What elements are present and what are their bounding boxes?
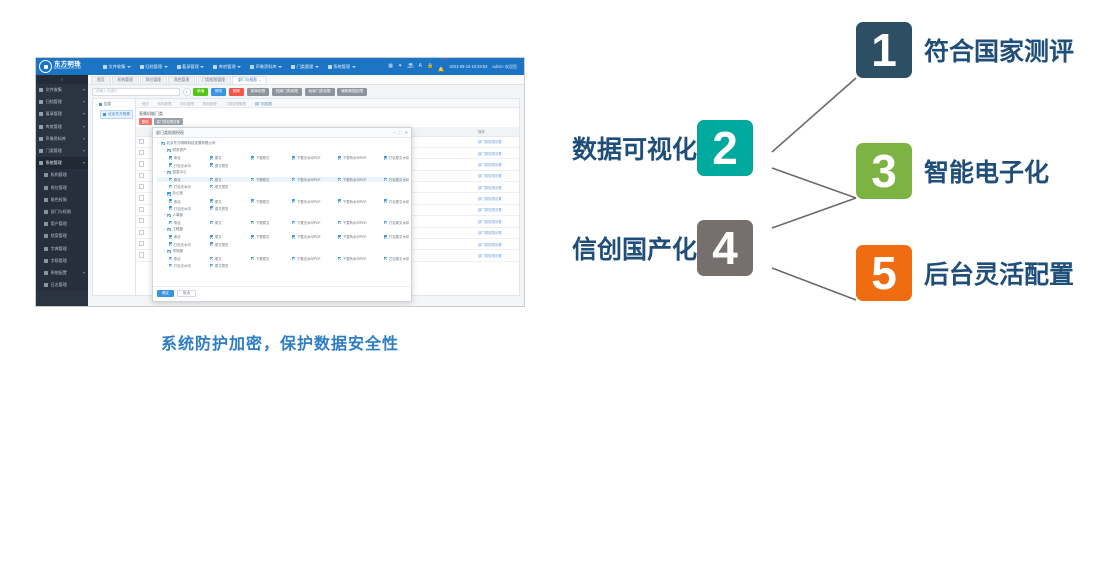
nav-icon-4 <box>250 65 254 69</box>
col-checkbox <box>136 127 150 137</box>
tab-label-0: 首页 <box>97 78 105 83</box>
modal-header: 部门类权限授权 − ⛶ ✕ <box>153 128 411 138</box>
badge-number-3: 3 <box>856 143 912 199</box>
sidebar-icon-0 <box>39 88 43 92</box>
sidebar: ≡ 文件收集 归档管理 著录管理 库房管理 声像资料库 门类管理 系统管理 机构… <box>36 75 88 307</box>
sidebar-label-0: 文件收集 <box>46 87 81 93</box>
tab-1[interactable]: 机构管理 <box>112 76 139 84</box>
toolbar: 请输入关键字 ⌕ 新增 修改 删除 菜单权限 档案门类权限 检索门类权限 辅助数… <box>88 85 524 98</box>
feature-node-3: 3 智能电子化 <box>856 143 1049 199</box>
folder-icon <box>99 103 102 106</box>
row-action[interactable]: 部门类权限设置 <box>475 182 519 193</box>
bell-icon[interactable]: 🔔 9 <box>438 58 444 76</box>
chevron-down-icon-s0 <box>83 89 85 91</box>
row-checkbox[interactable] <box>136 204 150 215</box>
sidebar-label-2: 著录管理 <box>46 111 81 117</box>
modal-perm-row-0-0: 条目 原文 下载原文 下载无水印PDF 下载有水印PDF 打包原文水印 <box>157 155 407 160</box>
chevron-down-icon-s5 <box>83 150 85 152</box>
sidebar-icon-8 <box>44 186 48 190</box>
inner-tab-2[interactable]: 岗位管理 <box>176 101 198 106</box>
add-button[interactable]: 新增 <box>193 88 208 96</box>
tree-child-label: 北京东方明珠 <box>108 112 130 117</box>
tab-4[interactable]: 门类权限管理 <box>196 76 231 84</box>
sidebar-icon-11 <box>44 222 48 226</box>
modal-footer: 确定 取消 <box>153 286 411 300</box>
feature-diagram: 1 符合国家测评 数据可视化 2 3 智能电子化 信创国产化 4 5 后台灵活配… <box>560 0 1118 360</box>
perm-4-0-1[interactable]: 原文 <box>210 234 251 239</box>
maximize-icon[interactable]: ⛶ <box>399 130 402 135</box>
row-checkbox[interactable] <box>136 216 150 227</box>
perm-2-0-0[interactable]: 条目 <box>169 199 210 204</box>
modal-confirm-button[interactable]: 确定 <box>157 290 174 298</box>
chevron-down-icon-s15 <box>83 272 85 274</box>
sidebar-item-0[interactable]: 文件收集 <box>36 84 88 96</box>
panel-permission-button[interactable]: 部门类权限设置 <box>154 118 183 125</box>
connector-4-to-3 <box>772 198 856 228</box>
nav-icon-6 <box>328 65 332 69</box>
modal-cancel-button[interactable]: 取消 <box>177 290 196 298</box>
perm-5-0-0[interactable]: 条目 <box>169 256 210 261</box>
checkbox-group-4[interactable] <box>167 228 170 231</box>
sidebar-icon-12 <box>44 234 48 238</box>
folder-icon-child <box>103 113 106 116</box>
row-checkbox[interactable] <box>136 182 150 193</box>
feature-node-2: 数据可视化 2 <box>572 120 753 176</box>
perm-5-1-1[interactable]: 原文预览 <box>210 263 251 268</box>
modal-group-5[interactable]: − 市场部 <box>157 249 407 254</box>
row-action[interactable]: 部门类权限设置 <box>475 238 519 249</box>
perm-0-0-0[interactable]: 条目 <box>169 155 210 160</box>
perm-1-1-1[interactable]: 原文预览 <box>210 184 251 189</box>
nav-icon-3 <box>213 65 217 69</box>
checkbox-group-3[interactable] <box>167 214 170 217</box>
archive-category-permission-button[interactable]: 档案门类权限 <box>272 88 302 96</box>
perm-1-0-2[interactable]: 下载原文 <box>251 177 292 182</box>
sidebar-item-8[interactable]: 岗位管理 <box>36 182 88 194</box>
sidebar-item-3[interactable]: 库房管理 <box>36 121 88 133</box>
nav-item-2[interactable]: 著录管理 <box>177 64 205 70</box>
modal-perm-row-5-1: 打包无水印 原文预览 <box>157 263 407 268</box>
nav-item-0[interactable]: 文件收集 <box>103 64 131 70</box>
sidebar-item-6[interactable]: 系统管理 <box>36 157 88 169</box>
panel-delete-button[interactable]: 删除 <box>139 118 152 125</box>
tab-3[interactable]: 角色管理 <box>168 76 195 84</box>
sidebar-icon-6 <box>39 161 43 165</box>
search-icon[interactable]: ⌕ <box>183 88 191 96</box>
sidebar-item-2[interactable]: 著录管理 <box>36 108 88 120</box>
sidebar-item-4[interactable]: 声像资料库 <box>36 133 88 145</box>
tab-label-4: 门类权限管理 <box>202 78 225 83</box>
perm-5-0-2[interactable]: 下载原文 <box>251 256 292 261</box>
tab-label-1: 机构管理 <box>118 78 133 83</box>
modal-group-label-4: 工程部 <box>173 227 184 232</box>
badge-number-2: 2 <box>697 120 753 176</box>
modal-group-label-1: 信息中心 <box>173 170 187 175</box>
chevron-down-icon-s3 <box>83 126 85 128</box>
perm-0-0-4[interactable]: 下载有水印PDF <box>338 155 384 160</box>
modal-group-0[interactable]: − 财务资产 <box>157 148 407 153</box>
nav-item-1[interactable]: 归档管理 <box>140 64 168 70</box>
col-action: 操作 <box>475 127 519 137</box>
tree-collapse-icon-g1[interactable]: − <box>163 170 165 174</box>
umbrella-icon[interactable]: ⛱ <box>407 64 413 69</box>
sidebar-item-15[interactable]: 系统配置 <box>36 267 88 279</box>
sidebar-icon-4 <box>39 137 43 141</box>
feature-label-3: 智能电子化 <box>924 153 1049 189</box>
perm-1-0-4[interactable]: 下载有水印PDF <box>338 177 384 182</box>
perm-2-0-3[interactable]: 下载无水印PDF <box>292 199 338 204</box>
sidebar-item-13[interactable]: 字典管理 <box>36 242 88 254</box>
lock-icon[interactable]: 🔒 <box>427 64 433 69</box>
sidebar-item-14[interactable]: 字段管理 <box>36 255 88 267</box>
row-action[interactable]: 部门类权限设置 <box>475 147 519 158</box>
modal-group-label-5: 市场部 <box>173 249 184 254</box>
row-action[interactable]: 部门类权限设置 <box>475 250 519 261</box>
chevron-down-icon-s4 <box>83 138 85 140</box>
tab-label-5: 部门与权限 <box>238 78 257 83</box>
sidebar-label-9: 角色权限 <box>51 197 86 203</box>
modal-group-2[interactable]: − 办公室 <box>157 191 407 196</box>
perm-1-1-0[interactable]: 打包无水印 <box>169 184 210 189</box>
row-action[interactable]: 部门类权限设置 <box>475 216 519 227</box>
sidebar-icon-9 <box>44 198 48 202</box>
nav-item-3[interactable]: 库房管理 <box>213 64 241 70</box>
modal-title: 部门类权限授权 <box>156 130 184 136</box>
perm-4-1-1[interactable]: 原文预览 <box>210 242 251 247</box>
modal-group-label-2: 办公室 <box>173 191 184 196</box>
checkbox-group-2[interactable] <box>167 192 170 195</box>
checkbox-group-1[interactable] <box>167 171 170 174</box>
sidebar-item-1[interactable]: 归档管理 <box>36 96 88 108</box>
row-checkbox[interactable] <box>136 193 150 204</box>
modal-perm-row-4-1: 打包无水印 原文预览 <box>157 242 407 247</box>
nav-label-3: 库房管理 <box>219 64 236 70</box>
modal-perm-row-3-0: 条目 原文 下载原文 下载无水印PDF 下载有水印PDF 打包原文水印 <box>157 220 407 225</box>
nav-label-4: 声像资料库 <box>256 64 277 70</box>
perm-5-0-5[interactable]: 打包原文水印 <box>384 256 411 261</box>
sidebar-item-7[interactable]: 机构管理 <box>36 169 88 181</box>
nav-label-1: 归档管理 <box>145 64 162 70</box>
row-checkbox[interactable] <box>136 227 150 238</box>
delete-button[interactable]: 删除 <box>229 88 244 96</box>
checkbox-root[interactable] <box>161 142 164 145</box>
grid-icon[interactable]: ▦ <box>388 64 393 69</box>
perm-0-1-0[interactable]: 打包无水印 <box>169 163 210 168</box>
search-input[interactable]: 请输入关键字 <box>92 88 180 96</box>
modal-group-label-3: 人事部 <box>173 213 184 218</box>
sidebar-icon-1 <box>39 100 43 104</box>
perm-4-0-5[interactable]: 打包原文水印 <box>384 234 411 239</box>
tree-root-node[interactable]: − 全部 <box>95 102 133 107</box>
feature-label-4: 信创国产化 <box>572 230 697 266</box>
sidebar-label-1: 归档管理 <box>46 99 81 105</box>
perm-3-0-3[interactable]: 下载无水印PDF <box>292 220 338 225</box>
inner-tab-3[interactable]: 角色管理 <box>199 101 221 106</box>
nav-label-2: 著录管理 <box>182 64 199 70</box>
panel-button-row: 删除 部门类权限设置 <box>136 118 519 127</box>
close-icon[interactable]: ✕ <box>405 130 408 135</box>
nav-item-6[interactable]: 系统管理 <box>328 64 356 70</box>
perm-5-0-1[interactable]: 原文 <box>210 256 251 261</box>
connector-2-to-1 <box>772 78 856 152</box>
tree-child-node[interactable]: 北京东方明珠 <box>100 110 133 119</box>
search-placeholder: 请输入关键字 <box>96 89 118 94</box>
perm-4-0-3[interactable]: 下载无水印PDF <box>292 234 338 239</box>
main-nav[interactable]: 文件收集 归档管理 著录管理 库房管理 声像资料库 门类管理 系统管理 <box>103 64 388 70</box>
tree-collapse-icon-root[interactable]: − <box>157 142 159 146</box>
modal-org-root[interactable]: − 北京东方明珠科技发展有限公司 <box>157 141 407 146</box>
row-action[interactable]: 部门类权限设置 <box>475 193 519 204</box>
star-icon[interactable]: ✦ <box>398 64 402 69</box>
perm-1-0-3[interactable]: 下载无水印PDF <box>292 177 338 182</box>
modal-body: − 北京东方明珠科技发展有限公司 − 财务资产 条目 原文 下载原文 <box>153 138 411 286</box>
perm-3-0-2[interactable]: 下载原文 <box>251 220 292 225</box>
row-checkbox[interactable] <box>136 159 150 170</box>
product-screenshot-card: 东方明珠 MINGZHUDATA.COM 文件收集 归档管理 著录管理 库房管理… <box>35 57 525 307</box>
perm-0-0-3[interactable]: 下载无水印PDF <box>292 155 338 160</box>
chevron-down-icon-6 <box>352 66 356 68</box>
perm-1-0-1[interactable]: 原文 <box>210 177 251 182</box>
sidebar-label-4: 声像资料库 <box>46 136 81 142</box>
sidebar-icon-7 <box>44 173 48 177</box>
sidebar-item-16[interactable]: 日志管理 <box>36 279 88 291</box>
feature-node-1: 1 符合国家测评 <box>856 22 1074 78</box>
menu-permission-button[interactable]: 菜单权限 <box>247 88 270 96</box>
chevron-down-icon-0 <box>127 66 131 68</box>
chevron-down-icon-s1 <box>83 101 85 103</box>
tab-0[interactable]: 首页 <box>91 76 111 84</box>
tree-expand-icon[interactable]: − <box>95 103 97 107</box>
nav-label-6: 系统管理 <box>333 64 350 70</box>
badge-number-5: 5 <box>856 245 912 301</box>
sidebar-icon-10 <box>44 210 48 214</box>
edit-button[interactable]: 修改 <box>211 88 226 96</box>
chevron-down-icon-s6 <box>83 162 85 164</box>
caption-text: 系统防护加密，保护数据安全性 <box>35 330 525 354</box>
badge-number-1: 1 <box>856 22 912 78</box>
sidebar-label-10: 部门与权限 <box>51 209 86 215</box>
row-action[interactable]: 部门类权限设置 <box>475 227 519 238</box>
collapse-icon: ≡ <box>61 77 64 82</box>
sidebar-label-8: 岗位管理 <box>51 185 86 191</box>
perm-4-0-2[interactable]: 下载原文 <box>251 234 292 239</box>
row-action[interactable]: 部门类权限设置 <box>475 136 519 147</box>
row-action[interactable]: 部门类权限设置 <box>475 170 519 181</box>
modal-perm-row-2-1: 打包无水印 原文预览 <box>157 206 407 211</box>
badge-number-4: 4 <box>697 220 753 276</box>
tree-root-label: 全部 <box>104 102 112 107</box>
modal-perm-row-0-1: 打包无水印 原文预览 <box>157 163 407 168</box>
perm-2-1-1[interactable]: 原文预览 <box>210 206 251 211</box>
modal-group-4[interactable]: − 工程部 <box>157 227 407 232</box>
inner-tab-4[interactable]: 门类权限管理 <box>221 101 249 106</box>
tab-label-2: 岗位管理 <box>146 78 161 83</box>
perm-2-0-5[interactable]: 打包原文水印 <box>384 199 411 204</box>
sidebar-label-12: 档案管理 <box>51 233 86 239</box>
perm-0-1-1[interactable]: 原文预览 <box>210 163 251 168</box>
sidebar-icon-5 <box>39 149 43 153</box>
modal-perm-row-5-0: 条目 原文 下载原文 下载无水印PDF 下载有水印PDF 打包原文水印 <box>157 256 407 261</box>
row-checkbox[interactable] <box>136 250 150 261</box>
sidebar-icon-3 <box>39 125 43 129</box>
modal-perm-row-2-0: 条目 原文 下载原文 下载无水印PDF 下载有水印PDF 打包原文水印 <box>157 199 407 204</box>
org-tree-panel: − 全部 北京东方明珠 <box>92 98 136 296</box>
panel-title: 直属机能门类 <box>136 108 519 118</box>
perm-0-0-2[interactable]: 下载原文 <box>251 155 292 160</box>
sidebar-label-11: 用户管理 <box>51 221 86 227</box>
perm-3-0-5[interactable]: 打包原文水印 <box>384 220 411 225</box>
modal-group-label-0: 财务资产 <box>173 148 187 153</box>
modal-group-1[interactable]: − 信息中心 <box>157 170 407 175</box>
chevron-down-icon-2 <box>200 66 204 68</box>
perm-5-0-3[interactable]: 下载无水印PDF <box>292 256 338 261</box>
perm-0-0-1[interactable]: 原文 <box>210 155 251 160</box>
aux-data-permission-button[interactable]: 辅助数据权限 <box>337 88 367 96</box>
inner-tab-strip: 首页 机构管理 岗位管理 角色管理 门类权限管理 部门与权限 <box>136 99 519 108</box>
nav-item-4[interactable]: 声像资料库 <box>250 64 282 70</box>
row-checkbox[interactable] <box>136 238 150 249</box>
modal-org-root-label: 北京东方明珠科技发展有限公司 <box>167 141 216 146</box>
row-action[interactable]: 部门类权限设置 <box>475 159 519 170</box>
feature-label-5: 后台灵活配置 <box>924 255 1074 291</box>
perm-0-0-5[interactable]: 打包原文水印 <box>384 155 411 160</box>
nav-item-5[interactable]: 门类管理 <box>291 64 319 70</box>
row-action[interactable]: 部门类权限设置 <box>475 204 519 215</box>
feature-label-1: 符合国家测评 <box>924 32 1074 68</box>
tree-collapse-icon-g2[interactable]: − <box>163 192 165 196</box>
search-category-permission-button[interactable]: 检索门类权限 <box>305 88 335 96</box>
perm-2-1-0[interactable]: 打包无水印 <box>169 206 210 211</box>
perm-4-0-0[interactable]: 条目 <box>169 234 210 239</box>
modal-group-3[interactable]: − 人事部 <box>157 213 407 218</box>
user-greeting: admin 欢迎您 <box>492 64 517 70</box>
perm-5-0-4[interactable]: 下载有水印PDF <box>338 256 384 261</box>
chevron-down-icon-1 <box>164 66 168 68</box>
sidebar-icon-2 <box>39 112 43 116</box>
sidebar-label-7: 机构管理 <box>51 172 86 178</box>
feature-label-2: 数据可视化 <box>572 130 697 166</box>
close-icon-tab-5[interactable]: × <box>259 79 261 83</box>
sidebar-item-5[interactable]: 门类管理 <box>36 145 88 157</box>
sidebar-label-14: 字段管理 <box>51 258 86 264</box>
minimize-icon[interactable]: − <box>393 130 395 135</box>
sidebar-label-6: 系统管理 <box>46 160 81 166</box>
modal-perm-row-4-0: 条目 原文 下载原文 下载无水印PDF 下载有水印PDF 打包原文水印 <box>157 234 407 239</box>
perm-3-0-0[interactable]: 条目 <box>169 220 210 225</box>
tab-5[interactable]: 部门与权限× <box>232 76 267 84</box>
inner-tab-5[interactable]: 部门与权限 <box>251 101 276 106</box>
workspace: 首页 机构管理 岗位管理 角色管理 门类权限管理 部门与权限× 请输入关键字 ⌕… <box>88 75 524 307</box>
perm-2-0-2[interactable]: 下载原文 <box>251 199 292 204</box>
perm-3-0-1[interactable]: 原文 <box>210 220 251 225</box>
nav-icon-1 <box>140 65 144 69</box>
checkbox-group-5[interactable] <box>167 250 170 253</box>
row-checkbox[interactable] <box>136 170 150 181</box>
perm-1-0-0[interactable]: 条目 <box>169 177 210 182</box>
tree-collapse-icon-g4[interactable]: − <box>163 228 165 232</box>
connector-2-to-3 <box>772 168 856 198</box>
nav-icon-0 <box>103 65 107 69</box>
feature-node-4: 信创国产化 4 <box>572 220 753 276</box>
sidebar-collapse-toggle[interactable]: ≡ <box>36 75 88 84</box>
perm-4-0-4[interactable]: 下载有水印PDF <box>338 234 384 239</box>
feature-node-5: 5 后台灵活配置 <box>856 245 1074 301</box>
inner-tab-1[interactable]: 机构管理 <box>154 101 176 106</box>
perm-4-1-0[interactable]: 打包无水印 <box>169 242 210 247</box>
sidebar-label-16: 日志管理 <box>51 282 86 288</box>
tree-collapse-icon-g3[interactable]: − <box>163 213 165 217</box>
nav-label-0: 文件收集 <box>109 64 126 70</box>
sidebar-item-9[interactable]: 角色权限 <box>36 194 88 206</box>
sidebar-icon-15 <box>44 271 48 275</box>
logo-subtitle: MINGZHUDATA.COM <box>54 68 81 71</box>
permission-modal: 部门类权限授权 − ⛶ ✕ − 北京东方明珠科技发展有限公司 <box>152 127 412 302</box>
perm-3-0-4[interactable]: 下载有水印PDF <box>338 220 384 225</box>
sidebar-label-15: 系统配置 <box>51 270 81 276</box>
topbar-right: ▦ ✦ ⛱ A 🔒 🔔 9 2021-06-15 10:28:53 admin … <box>388 58 521 76</box>
row-checkbox[interactable] <box>136 147 150 158</box>
perm-2-0-1[interactable]: 原文 <box>210 199 251 204</box>
modal-perm-row-1-0: 条目 原文 下载原文 下载无水印PDF 下载有水印PDF 打包原文水印 <box>157 177 407 182</box>
tree-collapse-icon-g0[interactable]: − <box>163 149 165 153</box>
tree-collapse-icon-g5[interactable]: − <box>163 249 165 253</box>
perm-5-1-0[interactable]: 打包无水印 <box>169 263 210 268</box>
tab-label-3: 角色管理 <box>174 78 189 83</box>
sidebar-icon-13 <box>44 247 48 251</box>
perm-2-0-4[interactable]: 下载有水印PDF <box>338 199 384 204</box>
sidebar-label-5: 门类管理 <box>46 148 81 154</box>
sidebar-label-13: 字典管理 <box>51 246 86 252</box>
notification-count: 9 <box>444 57 447 59</box>
nav-icon-2 <box>177 65 181 69</box>
sidebar-icon-16 <box>44 283 48 287</box>
chevron-down-icon-5 <box>315 66 319 68</box>
perm-1-0-5[interactable]: 打包原文水印 <box>384 177 411 182</box>
app-header: 东方明珠 MINGZHUDATA.COM 文件收集 归档管理 著录管理 库房管理… <box>36 58 524 75</box>
tab-2[interactable]: 岗位管理 <box>140 76 167 84</box>
nav-label-5: 门类管理 <box>297 64 314 70</box>
app-logo: 东方明珠 MINGZHUDATA.COM <box>39 60 97 73</box>
sidebar-item-11[interactable]: 用户管理 <box>36 218 88 230</box>
connector-4-to-5 <box>772 268 856 300</box>
nav-icon-5 <box>291 65 295 69</box>
sidebar-icon-14 <box>44 259 48 263</box>
inner-tab-0[interactable]: 首页 <box>138 101 153 106</box>
sidebar-label-3: 库房管理 <box>46 124 81 130</box>
tab-strip: 首页 机构管理 岗位管理 角色管理 门类权限管理 部门与权限× <box>88 75 524 85</box>
checkbox-group-0[interactable] <box>167 149 170 152</box>
datetime-display: 2021-06-15 10:28:53 <box>449 64 487 69</box>
row-checkbox[interactable] <box>136 136 150 147</box>
chevron-down-icon-s2 <box>83 113 85 115</box>
sidebar-item-10[interactable]: 部门与权限 <box>36 206 88 218</box>
chevron-down-icon-3 <box>237 66 241 68</box>
chevron-down-icon-4 <box>278 66 282 68</box>
logo-emblem-icon <box>39 60 52 73</box>
modal-perm-row-1-1: 打包无水印 原文预览 <box>157 184 407 189</box>
font-icon[interactable]: A <box>419 64 422 69</box>
sidebar-item-12[interactable]: 档案管理 <box>36 230 88 242</box>
